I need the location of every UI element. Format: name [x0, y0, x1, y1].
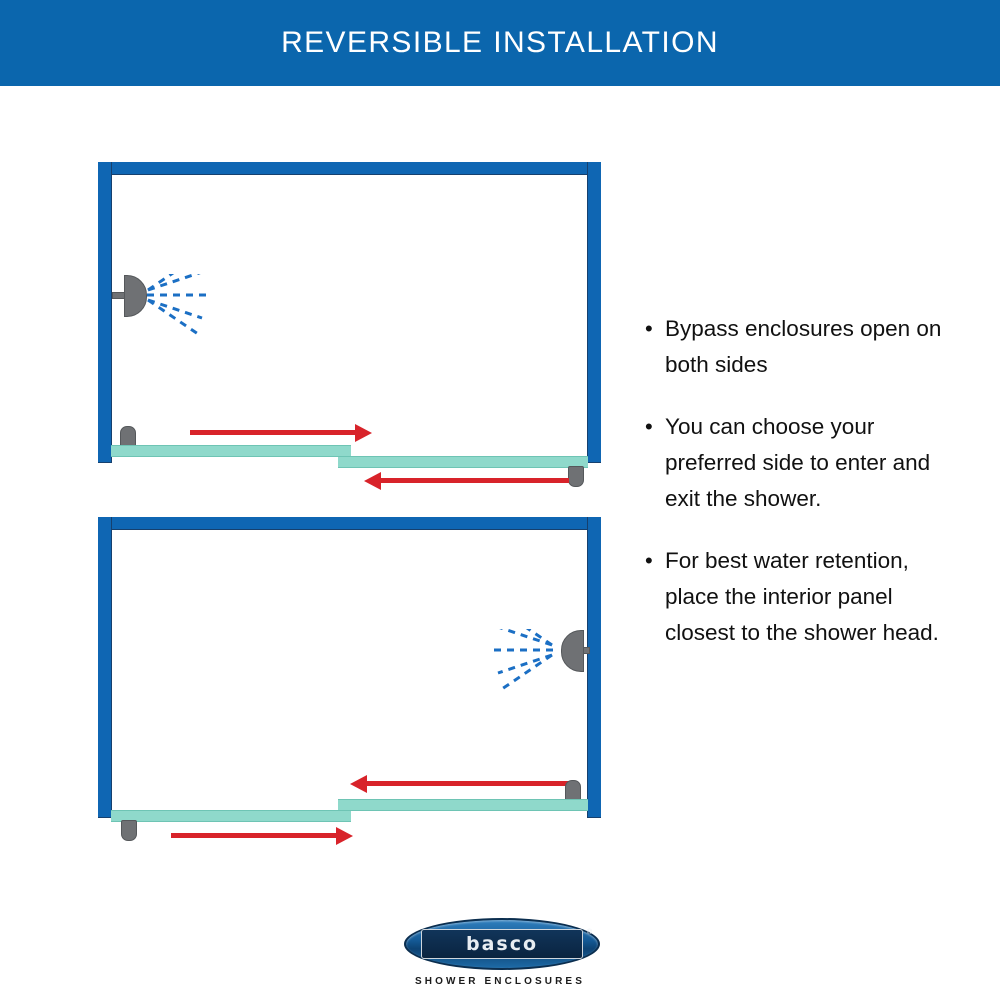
logo-inner-plate: basco [421, 929, 583, 959]
list-item-text: Bypass enclosures open on both sides [665, 311, 965, 383]
bullet-marker-icon: • [645, 543, 665, 579]
instructions-list: • Bypass enclosures open on both sides •… [645, 311, 965, 677]
panel-direction-arrow-right [190, 424, 372, 442]
enclosure-top-rail [98, 162, 600, 175]
diagram-stage: • Bypass enclosures open on both sides •… [0, 86, 1000, 1000]
interior-panel-handle [565, 780, 581, 801]
enclosure-right-post [587, 517, 601, 818]
interior-glass-panel [338, 799, 588, 811]
panel-direction-arrow-right [171, 827, 353, 845]
panel-direction-arrow-left [350, 775, 572, 793]
enclosure-left-post [98, 162, 112, 463]
water-spray-icon [468, 629, 588, 729]
list-item: • You can choose your preferred side to … [645, 409, 965, 517]
logo-wordmark: basco [466, 933, 538, 955]
interior-panel-handle [568, 466, 584, 487]
exterior-panel-handle [120, 426, 136, 447]
brand-logo: basco ® SHOWER ENCLOSURES [404, 918, 596, 990]
bottom-diagram [98, 517, 608, 847]
panel-direction-arrow-left [364, 472, 569, 490]
bullet-marker-icon: • [645, 311, 665, 347]
exterior-glass-panel [111, 810, 351, 822]
list-item: • For best water retention, place the in… [645, 543, 965, 651]
exterior-glass-panel [111, 445, 351, 457]
top-diagram [98, 162, 608, 492]
exterior-panel-handle [121, 820, 137, 841]
enclosure-top-rail [98, 517, 600, 530]
interior-glass-panel [338, 456, 588, 468]
list-item-text: You can choose your preferred side to en… [665, 409, 965, 517]
enclosure-right-post [587, 162, 601, 463]
water-spray-icon [112, 274, 232, 374]
bullet-marker-icon: • [645, 409, 665, 445]
shower-head [112, 274, 232, 374]
list-item-text: For best water retention, place the inte… [665, 543, 965, 651]
shower-head [468, 629, 588, 729]
registered-trademark-icon: ® [587, 929, 592, 936]
logo-badge: basco ® [404, 918, 600, 970]
enclosure-left-post [98, 517, 112, 818]
page-title: REVERSIBLE INSTALLATION [281, 26, 719, 60]
logo-tagline: SHOWER ENCLOSURES [404, 976, 596, 987]
list-item: • Bypass enclosures open on both sides [645, 311, 965, 383]
page-header: REVERSIBLE INSTALLATION [0, 0, 1000, 86]
